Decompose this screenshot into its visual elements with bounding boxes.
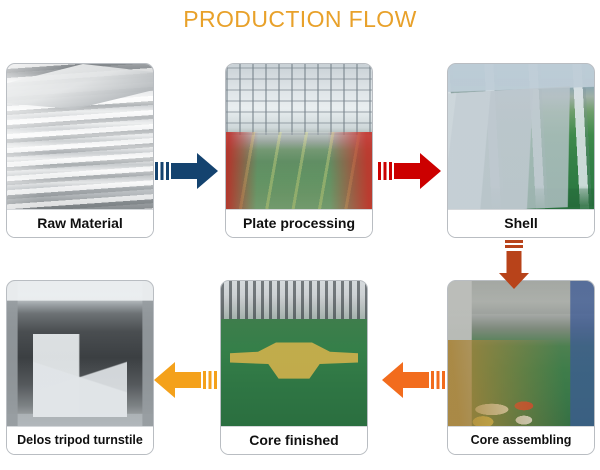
step-card-delos-tripod-turnstile[interactable]: Delos tripod turnstile bbox=[6, 280, 154, 455]
step-label-shell: Shell bbox=[448, 209, 594, 237]
step-card-plate-processing[interactable]: Plate processing bbox=[225, 63, 373, 238]
step-label-core-assembling: Core assembling bbox=[448, 426, 594, 454]
raw-material-photo bbox=[7, 64, 153, 212]
step-label-core-finished: Core finished bbox=[221, 426, 367, 454]
step-card-core-assembling[interactable]: Core assembling bbox=[447, 280, 595, 455]
step-card-raw-material[interactable]: Raw Material bbox=[6, 63, 154, 238]
step-label-delos-tripod-turnstile: Delos tripod turnstile bbox=[7, 426, 153, 454]
plate-processing-photo bbox=[226, 64, 372, 212]
arrow-right-icon bbox=[155, 151, 219, 191]
core-finished-photo bbox=[221, 281, 367, 429]
step-card-shell[interactable]: Shell bbox=[447, 63, 595, 238]
arrow-left-icon bbox=[381, 360, 445, 400]
shell-photo bbox=[448, 64, 594, 212]
arrow-left-icon bbox=[153, 360, 217, 400]
arrow-right-icon bbox=[378, 151, 442, 191]
core-assembling-photo bbox=[448, 281, 594, 429]
step-label-raw-material: Raw Material bbox=[7, 209, 153, 237]
page-title: PRODUCTION FLOW bbox=[0, 6, 600, 33]
step-label-plate-processing: Plate processing bbox=[226, 209, 372, 237]
arrow-down-icon bbox=[497, 240, 531, 290]
delos-tripod-turnstile-photo bbox=[7, 281, 153, 429]
step-card-core-finished[interactable]: Core finished bbox=[220, 280, 368, 455]
